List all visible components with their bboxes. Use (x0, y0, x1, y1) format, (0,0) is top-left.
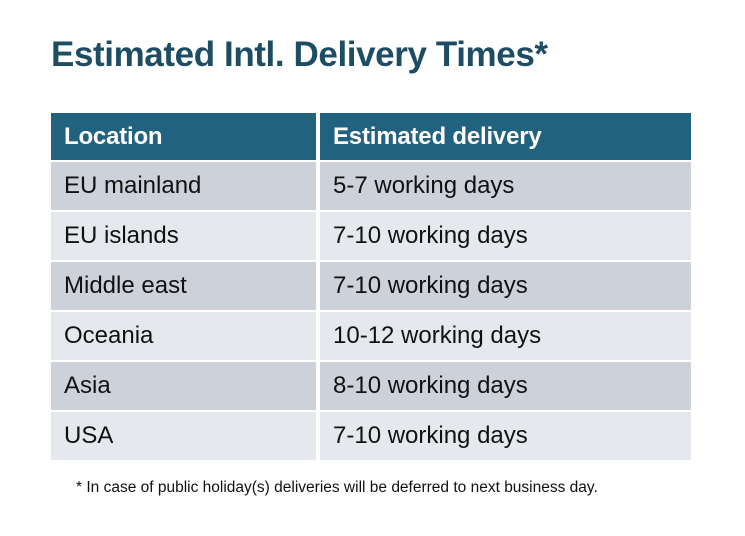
table-row: USA 7-10 working days (51, 412, 691, 460)
cell-estimated-delivery: 7-10 working days (320, 212, 691, 260)
cell-estimated-delivery: 5-7 working days (320, 162, 691, 210)
footnote-text: * In case of public holiday(s) deliverie… (76, 479, 598, 497)
cell-estimated-delivery: 7-10 working days (320, 262, 691, 310)
cell-estimated-delivery: 10-12 working days (320, 312, 691, 360)
table-row: EU islands 7-10 working days (51, 212, 691, 260)
column-header-estimated-delivery: Estimated delivery (320, 113, 691, 160)
table-row: Oceania 10-12 working days (51, 312, 691, 360)
cell-location: Oceania (51, 312, 316, 360)
column-header-location: Location (51, 113, 316, 160)
estimated-delivery-table: Location Estimated delivery EU mainland … (51, 113, 691, 460)
cell-location: Asia (51, 362, 316, 410)
cell-location: USA (51, 412, 316, 460)
page-title: Estimated Intl. Delivery Times* (51, 36, 548, 75)
cell-estimated-delivery: 7-10 working days (320, 412, 691, 460)
delivery-times-page: Estimated Intl. Delivery Times* Location… (0, 0, 745, 536)
table-row: EU mainland 5-7 working days (51, 162, 691, 210)
cell-estimated-delivery: 8-10 working days (320, 362, 691, 410)
cell-location: Middle east (51, 262, 316, 310)
table-row: Asia 8-10 working days (51, 362, 691, 410)
cell-location: EU mainland (51, 162, 316, 210)
table-row: Middle east 7-10 working days (51, 262, 691, 310)
cell-location: EU islands (51, 212, 316, 260)
table-header-row: Location Estimated delivery (51, 113, 691, 160)
